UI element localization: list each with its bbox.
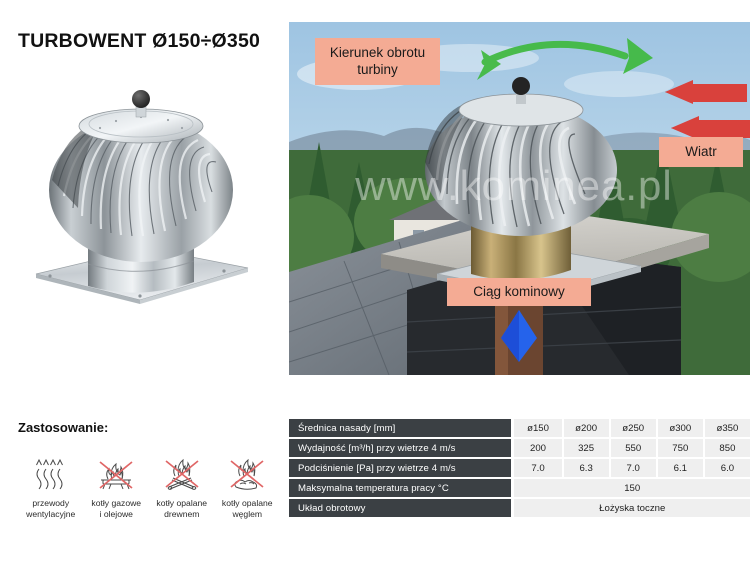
spec-cell: 7.0	[609, 459, 656, 477]
spec-cell: 6.3	[562, 459, 609, 477]
spec-row-label: Układ obrotowy	[289, 499, 511, 517]
page-title: TURBOWENT Ø150÷Ø350	[18, 30, 260, 53]
coal-boiler-icon	[215, 455, 281, 491]
application-item-ventilation: przewody wentylacyjne	[18, 455, 84, 520]
gas-oil-boiler-icon	[84, 455, 150, 491]
application-items: przewody wentylacyjne	[18, 455, 280, 520]
application-label: kotły opalane drewnem	[149, 498, 215, 520]
spec-row-label: Wydajność [m³/h] przy wietrze 4 m/s	[289, 439, 511, 457]
application-item-gas-oil: kotły gazowe i olejowe	[84, 455, 150, 520]
product-datasheet-page: TURBOWENT Ø150÷Ø350	[0, 0, 750, 562]
spec-cell: 7.0	[514, 459, 561, 477]
forbidden-cross	[166, 461, 198, 487]
application-label: kotły opalane węglem	[215, 498, 281, 520]
spec-table: Średnica nasady [mm] ø150 ø200 ø250 ø300…	[289, 417, 750, 519]
table-row: Podciśnienie [Pa] przy wietrze 4 m/s 7.0…	[289, 459, 750, 477]
spec-cell-merged: Łożyska toczne	[514, 499, 750, 517]
spec-cell: ø250	[609, 419, 656, 437]
callout-chimney-draft: Ciąg kominowy	[447, 278, 591, 306]
application-section: Zastosowanie:	[18, 420, 280, 520]
product-photo	[28, 68, 256, 306]
application-item-wood: kotły opalane drewnem	[149, 455, 215, 520]
application-label: kotły gazowe i olejowe	[84, 498, 150, 520]
spec-cell-merged: 150	[514, 479, 750, 497]
wood-boiler-icon	[149, 455, 215, 491]
spec-cell: ø150	[514, 419, 561, 437]
scene-photo: www.kominea.pl Kierunek obrotu turbiny W…	[289, 22, 750, 375]
spec-row-label: Podciśnienie [Pa] przy wietrze 4 m/s	[289, 459, 511, 477]
spec-cell: 200	[514, 439, 561, 457]
spec-cell: 750	[656, 439, 703, 457]
spec-row-label: Średnica nasady [mm]	[289, 419, 511, 437]
spec-cell: ø350	[703, 419, 750, 437]
spec-cell: ø300	[656, 419, 703, 437]
table-row: Wydajność [m³/h] przy wietrze 4 m/s 200 …	[289, 439, 750, 457]
table-row: Średnica nasady [mm] ø150 ø200 ø250 ø300…	[289, 419, 750, 437]
spec-cell: 325	[562, 439, 609, 457]
spec-table-body: Średnica nasady [mm] ø150 ø200 ø250 ø300…	[289, 419, 750, 517]
top-knob-ball-scene	[512, 77, 530, 95]
application-heading: Zastosowanie:	[18, 420, 280, 435]
callout-wind: Wiatr	[659, 137, 743, 167]
spec-cell: 550	[609, 439, 656, 457]
ventilation-ducts-icon	[18, 455, 84, 491]
top-knob-ball	[132, 90, 150, 108]
spec-cell: 6.0	[703, 459, 750, 477]
spec-cell: ø200	[562, 419, 609, 437]
spec-cell: 850	[703, 439, 750, 457]
callout-rotation: Kierunek obrotu turbiny	[315, 38, 440, 85]
table-row: Maksymalna temperatura pracy °C 150	[289, 479, 750, 497]
application-item-coal: kotły opalane węglem	[215, 455, 281, 520]
product-photo-illustration	[28, 68, 256, 306]
spec-row-label: Maksymalna temperatura pracy °C	[289, 479, 511, 497]
table-row: Układ obrotowy Łożyska toczne	[289, 499, 750, 517]
forbidden-cross	[231, 461, 263, 487]
spec-cell: 6.1	[656, 459, 703, 477]
application-label: przewody wentylacyjne	[18, 498, 84, 520]
